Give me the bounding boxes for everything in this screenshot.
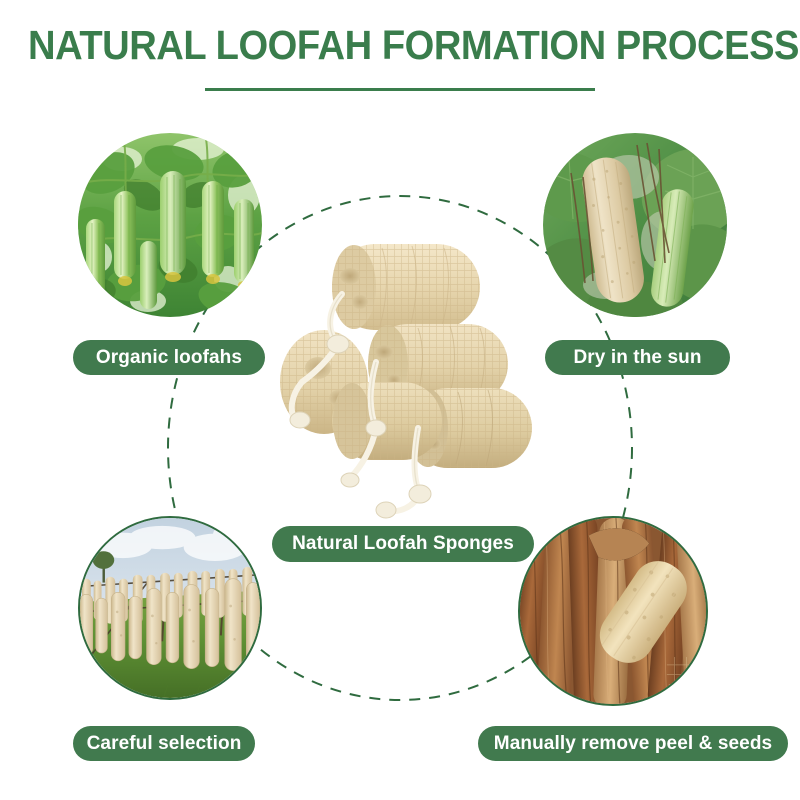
step-label-organic-loofahs[interactable]: Organic loofahs [73,340,265,375]
step-label-dry-in-the-sun[interactable]: Dry in the sun [545,340,730,375]
step-image-organic-loofahs [78,133,262,317]
center-product-image [272,232,540,522]
center-product-label[interactable]: Natural Loofah Sponges [272,526,534,562]
step-image-manually-remove-peel-and-seeds [518,516,708,706]
step-image-dry-in-the-sun [543,133,727,317]
step-label-careful-selection[interactable]: Careful selection [73,726,255,761]
infographic-canvas: NATURAL LOOFAH FORMATION PROCESS [0,0,800,800]
step-image-careful-selection [78,516,262,700]
page-title: NATURAL LOOFAH FORMATION PROCESS [28,22,772,69]
step-label-manually-remove-peel-and-seeds[interactable]: Manually remove peel & seeds [478,726,788,761]
title-underline-divider [205,88,595,91]
